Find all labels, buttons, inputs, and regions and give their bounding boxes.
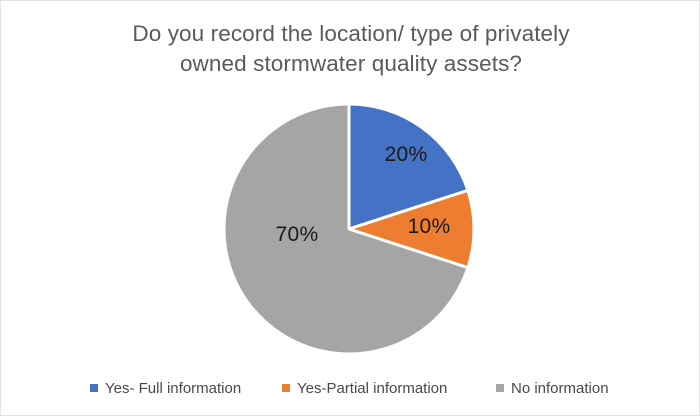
slice-label-yes-full: 20% xyxy=(385,143,428,167)
legend-swatch-icon xyxy=(282,384,290,392)
chart-legend: Yes- Full information Yes-Partial inform… xyxy=(1,375,700,401)
plot-area: 20% 10% 70% xyxy=(1,1,700,369)
legend-swatch-icon xyxy=(496,384,504,392)
slice-label-no-information: 70% xyxy=(276,223,319,247)
legend-item-yes-partial[interactable]: Yes-Partial information xyxy=(282,375,447,401)
legend-item-yes-full[interactable]: Yes- Full information xyxy=(90,375,241,401)
legend-swatch-icon xyxy=(90,384,98,392)
slice-label-yes-partial: 10% xyxy=(408,215,451,239)
legend-label: Yes-Partial information xyxy=(297,380,447,397)
chart-image: Do you record the location/ type of priv… xyxy=(0,0,700,416)
legend-item-no-information[interactable]: No information xyxy=(496,375,609,401)
legend-label: Yes- Full information xyxy=(105,380,241,397)
legend-label: No information xyxy=(511,380,609,397)
